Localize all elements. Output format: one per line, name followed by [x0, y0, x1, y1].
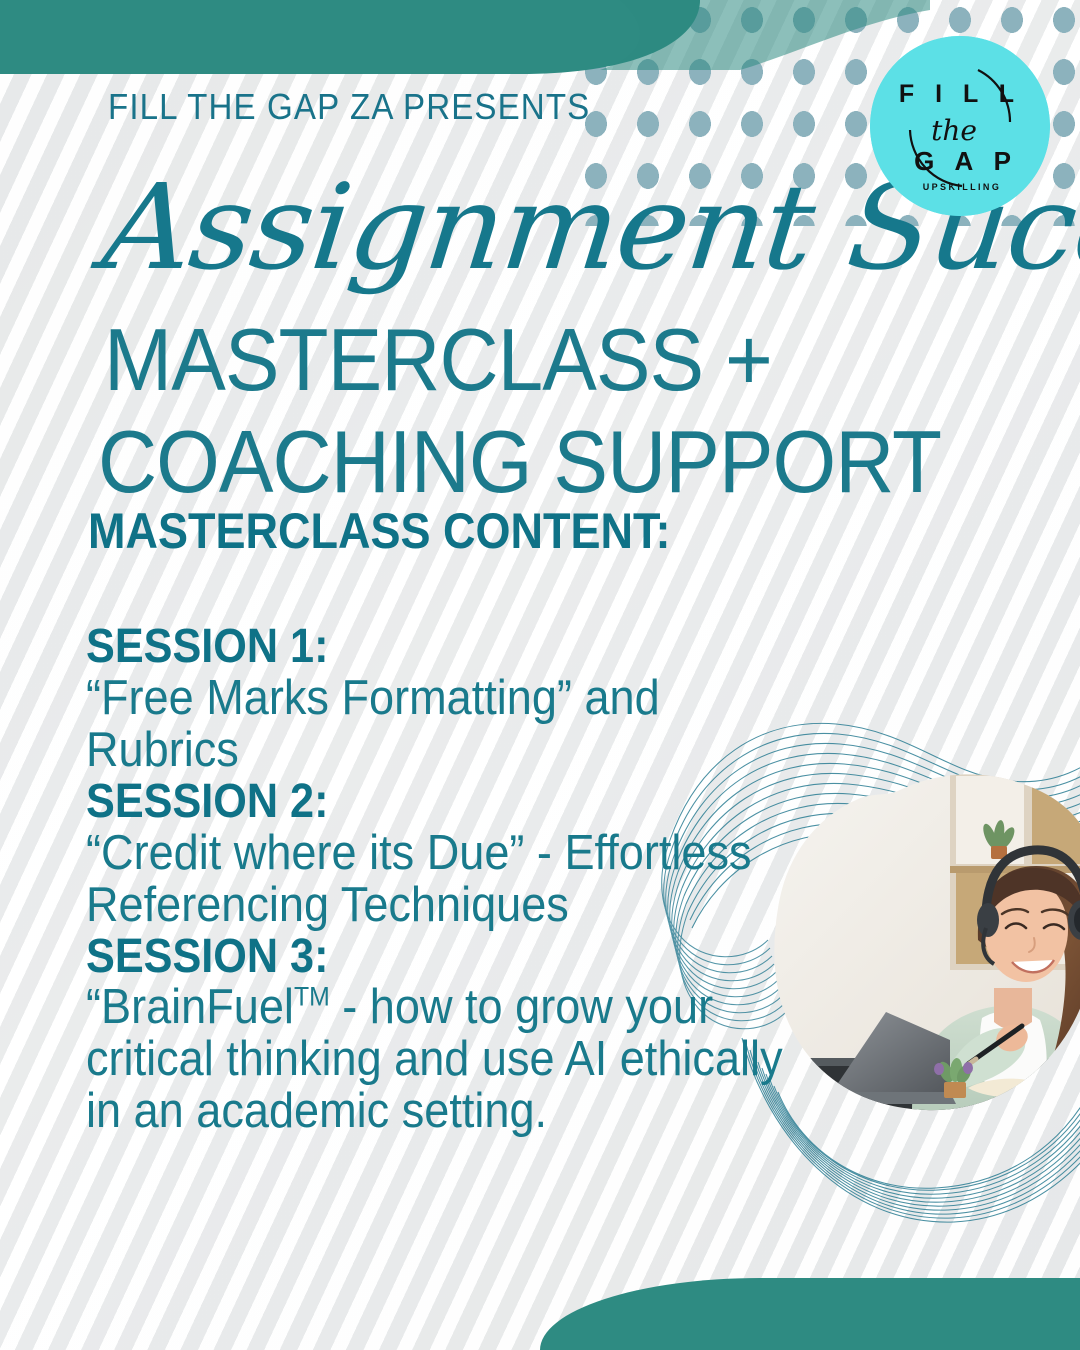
session-block-3: SESSION 3: “BrainFuelTM - how to grow yo…	[86, 932, 886, 1139]
session-3-desc-before: “BrainFuel	[86, 980, 294, 1034]
session-1-label: SESSION 1:	[86, 622, 806, 673]
session-2-description: “Credit where its Due” - Effortless Refe…	[86, 828, 822, 932]
trademark-symbol: TM	[294, 982, 330, 1012]
logo-line1: F I L L	[899, 80, 1021, 108]
logo-script: the	[931, 114, 977, 147]
session-block-2: SESSION 2: “Credit where its Due” - Effo…	[86, 777, 886, 932]
session-3-label: SESSION 3:	[86, 932, 806, 983]
section-heading: MASTERCLASS CONTENT:	[88, 502, 670, 560]
session-2-label: SESSION 2:	[86, 777, 806, 828]
bottom-teal-banner	[540, 1278, 1080, 1350]
logo-tagline: UPSKILLING	[923, 182, 1002, 192]
title-line-2: COACHING SUPPORT	[98, 418, 941, 506]
session-3-description: “BrainFuelTM - how to grow your critical…	[86, 982, 822, 1138]
fill-the-gap-logo: F I L L the G A P UPSKILLING	[870, 36, 1050, 216]
sessions-list: SESSION 1: “Free Marks Formatting” and R…	[86, 622, 886, 1138]
session-block-1: SESSION 1: “Free Marks Formatting” and R…	[86, 622, 886, 777]
title-line-1: MASTERCLASS +	[104, 316, 772, 404]
poster-canvas: F I L L the G A P UPSKILLING	[0, 0, 1080, 1350]
kicker-text: FILL THE GAP ZA PRESENTS	[108, 86, 590, 128]
session-1-description: “Free Marks Formatting” and Rubrics	[86, 673, 822, 777]
logo-line2: G A P	[914, 146, 1018, 176]
logo-mark-icon: F I L L the G A P UPSKILLING	[870, 36, 1050, 216]
